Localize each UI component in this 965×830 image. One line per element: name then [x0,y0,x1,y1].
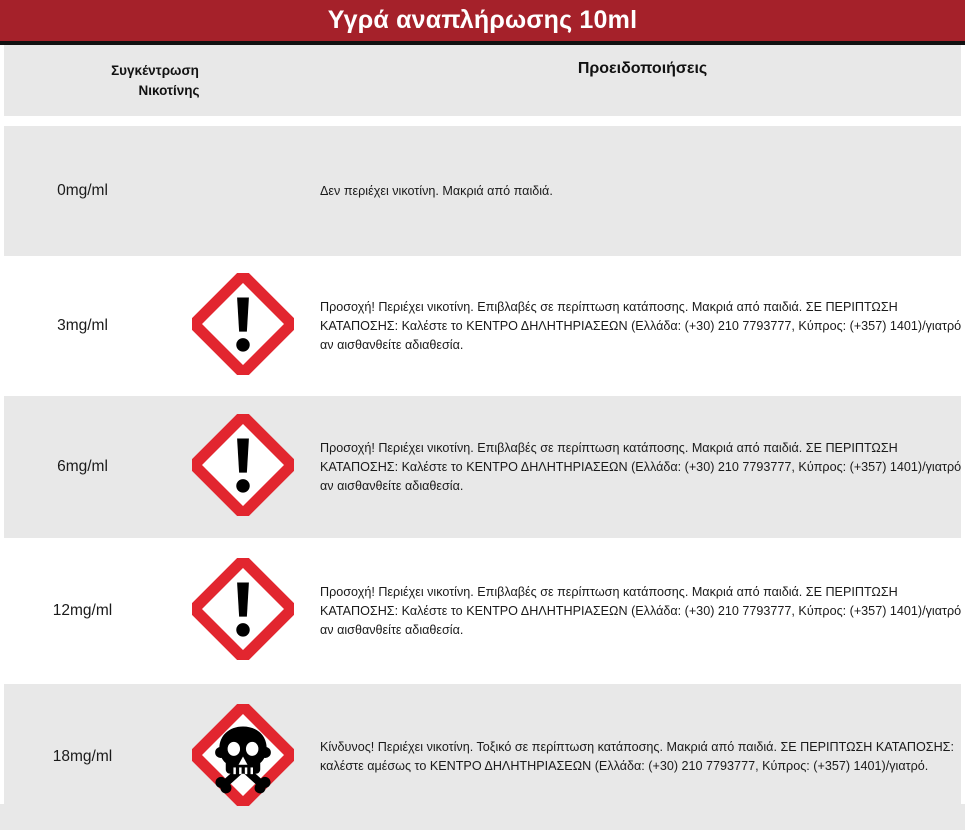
cell-warning: Προσοχή! Περιέχει νικοτίνη. Επιβλαβές σε… [320,396,965,538]
table-head: Συγκέντρωση Νικοτίνης Προειδοποιήσεις [0,45,965,126]
cell-concentration: 0mg/ml [0,126,165,256]
cell-pictogram [165,396,320,538]
table-row: 12mg/ml Προσοχή! Περιέχει νικοτίνη. Επιβ… [0,538,965,684]
cell-pictogram [165,256,320,396]
column-header-concentration-line1: Συγκέντρωση [4,61,320,81]
table-header-row: Συγκέντρωση Νικοτίνης Προειδοποιήσεις [0,45,965,116]
cell-concentration: 12mg/ml [0,538,165,684]
nicotine-warning-table-page: Υγρά αναπλήρωσης 10ml Συγκέντρωση Νικοτί… [0,0,965,804]
cell-pictogram [165,538,320,684]
ghs06-skull-and-crossbones-icon [192,704,294,806]
page-title: Υγρά αναπλήρωσης 10ml [328,8,637,33]
column-header-concentration-line2: Νικοτίνης [4,81,320,101]
table-header-gap-row [0,116,965,126]
ghs07-exclamation-mark-icon [192,414,294,516]
ghs07-exclamation-mark-icon [192,558,294,660]
cell-warning: Δεν περιέχει νικοτίνη. Μακριά από παιδιά… [320,126,965,256]
cell-warning: Κίνδυνος! Περιέχει νικοτίνη. Τοξικό σε π… [320,684,965,830]
cell-warning: Προσοχή! Περιέχει νικοτίνη. Επιβλαβές σε… [320,256,965,396]
table-row: 0mg/ml Δεν περιέχει νικοτίνη. Μακριά από… [0,126,965,256]
table-header-gap [0,116,965,126]
cell-concentration: 18mg/ml [0,684,165,830]
column-header-warnings: Προειδοποιήσεις [320,45,965,116]
table-row: 18mg/ml [0,684,965,830]
cell-concentration: 6mg/ml [0,396,165,538]
ghs07-exclamation-mark-icon [192,273,294,375]
cell-concentration: 3mg/ml [0,256,165,396]
cell-pictogram [165,684,320,830]
cell-warning: Προσοχή! Περιέχει νικοτίνη. Επιβλαβές σε… [320,538,965,684]
nicotine-warnings-table: Συγκέντρωση Νικοτίνης Προειδοποιήσεις 0m… [0,45,965,830]
table-row: 6mg/ml Προσοχή! Περιέχει νικοτίνη. Επιβλ… [0,396,965,538]
table-row: 3mg/ml Προσοχή! Περιέχει νικοτίνη. Επιβλ… [0,256,965,396]
table-body: 0mg/ml Δεν περιέχει νικοτίνη. Μακριά από… [0,126,965,830]
cell-pictogram [165,126,320,256]
page-title-bar: Υγρά αναπλήρωσης 10ml [0,0,965,41]
column-header-concentration: Συγκέντρωση Νικοτίνης [0,45,320,116]
